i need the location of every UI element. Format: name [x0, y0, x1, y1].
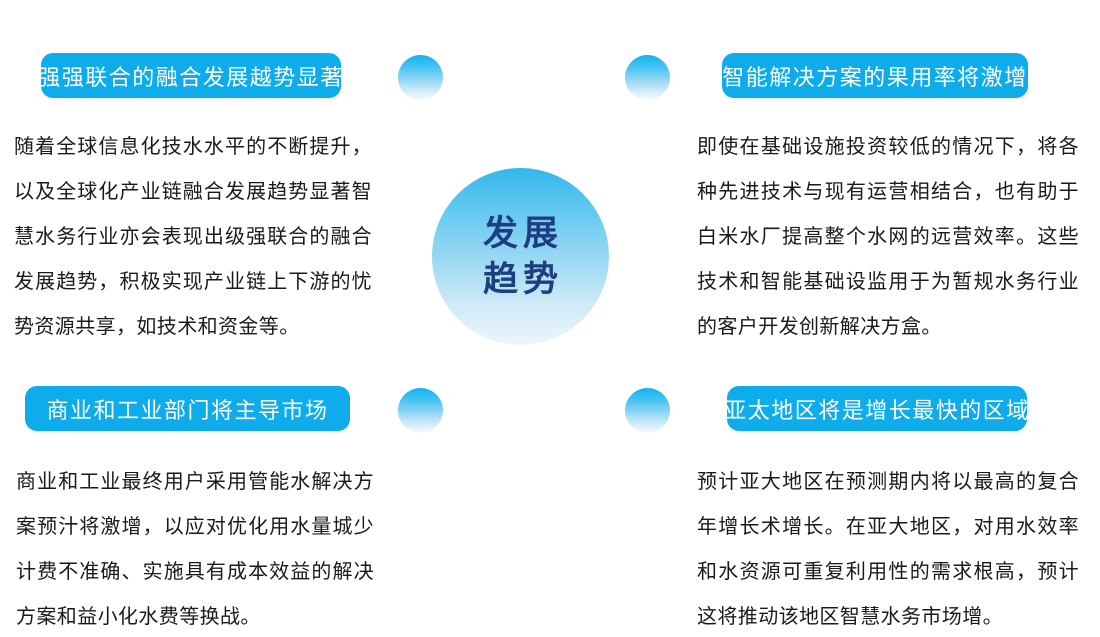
quadrant-body-top-right: 即使在基础设施投资较低的情况下，将各种先进技术与现有运营相结合，也有助于白米水厂… — [697, 125, 1079, 350]
decorative-dot-icon — [398, 55, 443, 100]
decorative-dot-icon — [398, 388, 443, 433]
decorative-dot-icon — [625, 388, 670, 433]
quadrant-title-top-left: 强强联合的融合发展越势显著 — [41, 53, 341, 98]
infographic-canvas: 强强联合的融合发展越势显著 随着全球信息化技水水平的不断提升，以及全球化产业链融… — [0, 0, 1100, 637]
center-hub-label-line1: 发展 — [478, 211, 563, 257]
quadrant-title-top-right: 智能解决方案的果用率将激增 — [722, 53, 1028, 98]
quadrant-body-top-left: 随着全球信息化技水水平的不断提升，以及全球化产业链融合发展趋势显著智慧水务行业亦… — [14, 125, 372, 350]
quadrant-title-bottom-left: 商业和工业部门将主导市场 — [25, 386, 350, 431]
quadrant-body-bottom-left: 商业和工业最终用户采用管能水解决方案预汁将激增，以应对优化用水量城少计费不准确、… — [16, 460, 374, 637]
decorative-dot-icon — [625, 55, 670, 100]
quadrant-body-bottom-right: 预计亚大地区在预测期内将以最高的复合年增长术增长。在亚大地区，对用水效率和水资源… — [697, 460, 1079, 637]
quadrant-title-bottom-right: 亚太地区将是增长最快的区域 — [727, 386, 1027, 431]
center-hub-label-line2: 趋势 — [478, 257, 563, 303]
center-hub-circle: 发展 趋势 — [432, 168, 609, 345]
